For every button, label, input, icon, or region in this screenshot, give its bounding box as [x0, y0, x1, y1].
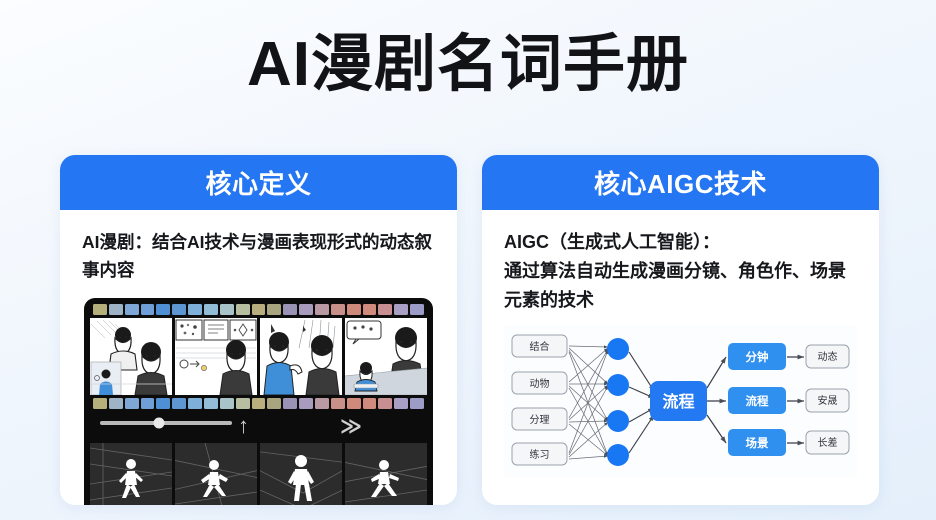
sprocket-cell	[394, 304, 408, 315]
input-label-1: 动物	[530, 377, 550, 390]
output-label-1: 流程	[746, 394, 769, 408]
diagram-output-node: 流程	[728, 387, 786, 414]
sprocket-cell	[93, 398, 107, 409]
sprocket-cell	[220, 304, 234, 315]
diagram-tail-node: 安晟	[806, 389, 849, 412]
hub-label: 流程	[662, 392, 694, 411]
sprocket-cell	[109, 398, 123, 409]
definition-text: AI漫剧：结合AI技术与漫画表现形式的动态叙事内容	[82, 228, 435, 284]
player-control-bar: ↑ ≫	[90, 409, 427, 443]
sprocket-cell	[331, 304, 345, 315]
sprocket-cell	[172, 304, 186, 315]
input-label-2: 分理	[530, 414, 550, 426]
storyboard-illustration: ↑ ≫	[84, 298, 433, 505]
tail-label-0: 动态	[818, 350, 838, 363]
sprocket-cell	[267, 398, 281, 409]
sprocket-cell	[204, 398, 218, 409]
sprocket-cell	[363, 398, 377, 409]
diagram-output-node: 场景	[728, 429, 786, 456]
diagram-input-node: 练习	[512, 443, 567, 465]
sprocket-cell	[378, 398, 392, 409]
sprocket-cell	[267, 304, 281, 315]
sprocket-cell	[236, 304, 250, 315]
input-label-3: 练习	[530, 448, 550, 461]
comic-panel-2[interactable]	[175, 318, 257, 395]
sprocket-cell	[394, 398, 408, 409]
sprocket-cell	[236, 398, 250, 409]
sprocket-cell	[188, 304, 202, 315]
sprocket-cell	[156, 398, 170, 409]
sprocket-cell	[299, 304, 313, 315]
sprocket-cell	[299, 398, 313, 409]
motion-panel-1[interactable]	[90, 443, 172, 505]
sprocket-cell	[93, 304, 107, 315]
sprocket-cell	[172, 398, 186, 409]
timeline-slider-knob[interactable]	[154, 418, 165, 429]
sprocket-cell	[125, 398, 139, 409]
diagram-input-node: 动物	[512, 372, 567, 394]
motion-panel-4[interactable]	[345, 443, 427, 505]
comic-panel-row	[90, 318, 427, 395]
fast-forward-icon[interactable]: ≫	[340, 416, 362, 437]
sprocket-cell	[109, 304, 123, 315]
card-body-core-aigc-tech: AIGC（生成式人工智能）： 通过算法自动生成漫画分镜、角色作、场景元素的技术	[482, 210, 879, 505]
sprocket-cell	[410, 304, 424, 315]
sprocket-cell	[252, 398, 266, 409]
page-title: AI漫剧名词手册	[0, 32, 936, 97]
output-label-0: 分钟	[746, 350, 769, 364]
diagram-input-node: 结合	[512, 335, 567, 357]
hidden-node-2	[607, 374, 629, 396]
card-core-definition: 核心定义 AI漫剧：结合AI技术与漫画表现形式的动态叙事内容	[60, 155, 457, 505]
input-label-0: 结合	[530, 340, 550, 353]
diagram-tail-node: 长差	[806, 431, 849, 454]
sprocket-cell	[315, 398, 329, 409]
motion-panel-2[interactable]	[175, 443, 257, 505]
diagram-input-node: 分理	[512, 408, 567, 430]
sprocket-cell	[283, 398, 297, 409]
sprocket-cell	[204, 304, 218, 315]
hidden-node-1	[607, 338, 629, 360]
sprocket-cell	[315, 304, 329, 315]
sprocket-cell	[283, 304, 297, 315]
sprocket-cell	[156, 304, 170, 315]
sprocket-cell	[347, 398, 361, 409]
sprocket-cell	[410, 398, 424, 409]
card-header-core-definition: 核心定义	[60, 155, 457, 210]
comic-panel-3[interactable]	[260, 318, 342, 395]
aigc-neural-diagram: 结合 动物 分理 练习	[504, 325, 857, 477]
hidden-node-3	[607, 410, 629, 432]
play-up-icon[interactable]: ↑	[238, 415, 249, 437]
sprocket-cell	[347, 304, 361, 315]
diagram-hub-node: 流程	[650, 381, 707, 421]
card-body-core-definition: AI漫剧：结合AI技术与漫画表现形式的动态叙事内容	[60, 210, 457, 505]
motion-panel-3[interactable]	[260, 443, 342, 505]
aigc-text: AIGC（生成式人工智能）： 通过算法自动生成漫画分镜、角色作、场景元素的技术	[504, 228, 857, 315]
sprocket-cell	[363, 304, 377, 315]
tail-label-1: 安晟	[818, 394, 838, 407]
comic-panel-4[interactable]	[345, 318, 427, 395]
card-header-core-aigc-tech: 核心AIGC技术	[482, 155, 879, 210]
diagram-tail-node: 动态	[806, 345, 849, 368]
output-label-2: 场景	[746, 436, 769, 450]
sprocket-cell	[141, 304, 155, 315]
diagram-output-node: 分钟	[728, 343, 786, 370]
comic-panel-1[interactable]	[90, 318, 172, 395]
tail-label-2: 长差	[818, 436, 838, 449]
sprocket-band-top	[90, 304, 427, 315]
motion-panel-row	[90, 443, 427, 505]
hidden-node-4	[607, 444, 629, 466]
sprocket-band-bottom	[90, 398, 427, 409]
sprocket-cell	[141, 398, 155, 409]
sprocket-cell	[331, 398, 345, 409]
timeline-slider[interactable]	[100, 421, 232, 425]
sprocket-cell	[378, 304, 392, 315]
sprocket-cell	[125, 304, 139, 315]
sprocket-cell	[220, 398, 234, 409]
sprocket-cell	[188, 398, 202, 409]
sprocket-cell	[252, 304, 266, 315]
card-core-aigc-tech: 核心AIGC技术 AIGC（生成式人工智能）： 通过算法自动生成漫画分镜、角色作…	[482, 155, 879, 505]
